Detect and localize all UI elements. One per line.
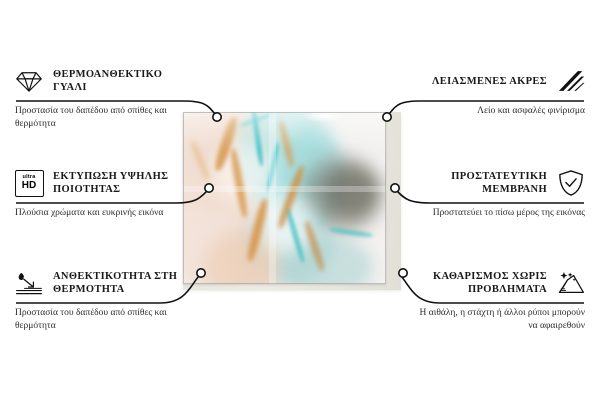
feature-title: ΠΡΟΣΤΑΤΕΥΤΙΚΗ ΜΕΜΒΡΑΝΗ: [410, 170, 547, 196]
feature-description: Πλούσια χρώματα και ευκρινής εικόνα: [14, 207, 190, 220]
glass-panel: [183, 112, 386, 284]
feature-heat-resistant-glass: ΘΕΡΜΟΑΝΘΕΚΤΙΚΟ ΓΥΑΛΙ Προστασία του δαπέδ…: [14, 64, 190, 130]
feature-high-quality-print: ultra HD ΕΚΤΥΠΩΣΗ ΥΨΗΛΗΣ ΠΟΙΟΤΗΤΑΣ Πλούσ…: [14, 166, 190, 220]
feature-easy-cleaning: ΚΑΘΑΡΙΣΜΟΣ ΧΩΡΙΣ ΠΡΟΒΛΗΜΑΤΑ Η αιθάλη, η …: [410, 266, 586, 332]
infographic-stage: ΘΕΡΜΟΑΝΘΕΚΤΙΚΟ ΓΥΑΛΙ Προστασία του δαπέδ…: [0, 0, 600, 400]
ultra-hd-icon: ultra HD: [14, 169, 44, 197]
feature-description: Η αιθάλη, η στάχτη ή άλλοι ρύποι μπορούν…: [410, 307, 586, 332]
marble-pattern: [183, 112, 386, 284]
feature-protective-film: ΠΡΟΣΤΑΤΕΥΤΙΚΗ ΜΕΜΒΡΑΝΗ Προστατεύει το πί…: [410, 166, 586, 220]
feature-title: ΕΚΤΥΠΩΣΗ ΥΨΗΛΗΣ ΠΟΙΟΤΗΤΑΣ: [53, 170, 190, 196]
feature-description: Προστασία του δαπέδου από σπίθες και θερ…: [14, 105, 190, 130]
feature-description: Προστατεύει το πίσω μέρος της εικόνας: [410, 207, 586, 220]
shield-check-icon: [556, 169, 586, 197]
feature-heat-durability: ΑΝΘΕΚΤΙΚΟΤΗΤΑ ΣΤΗ ΘΕΡΜΟΤΗΤΑ Προστασία το…: [14, 266, 190, 332]
diamond-icon: [14, 67, 44, 95]
polished-edges-icon: [556, 67, 586, 95]
ultra-hd-main-label: HD: [22, 181, 36, 191]
sponge-sparkle-icon: [556, 269, 586, 297]
feature-polished-edges: ΛΕΙΑΣΜΕΝΕΣ ΑΚΡΕΣ Λείο και ασφαλές φινίρι…: [410, 64, 586, 118]
feature-description: Λείο και ασφαλές φινίρισμα: [410, 105, 586, 118]
heat-deflection-icon: [14, 269, 44, 297]
feature-title: ΑΝΘΕΚΤΙΚΟΤΗΤΑ ΣΤΗ ΘΕΡΜΟΤΗΤΑ: [53, 270, 190, 296]
product-image: [183, 112, 401, 290]
feature-title: ΘΕΡΜΟΑΝΘΕΚΤΙΚΟ ΓΥΑΛΙ: [53, 68, 190, 94]
feature-description: Προστασία του δαπέδου από σπίθες και θερ…: [14, 307, 190, 332]
feature-title: ΛΕΙΑΣΜΕΝΕΣ ΑΚΡΕΣ: [410, 75, 547, 88]
feature-title: ΚΑΘΑΡΙΣΜΟΣ ΧΩΡΙΣ ΠΡΟΒΛΗΜΑΤΑ: [410, 270, 547, 296]
